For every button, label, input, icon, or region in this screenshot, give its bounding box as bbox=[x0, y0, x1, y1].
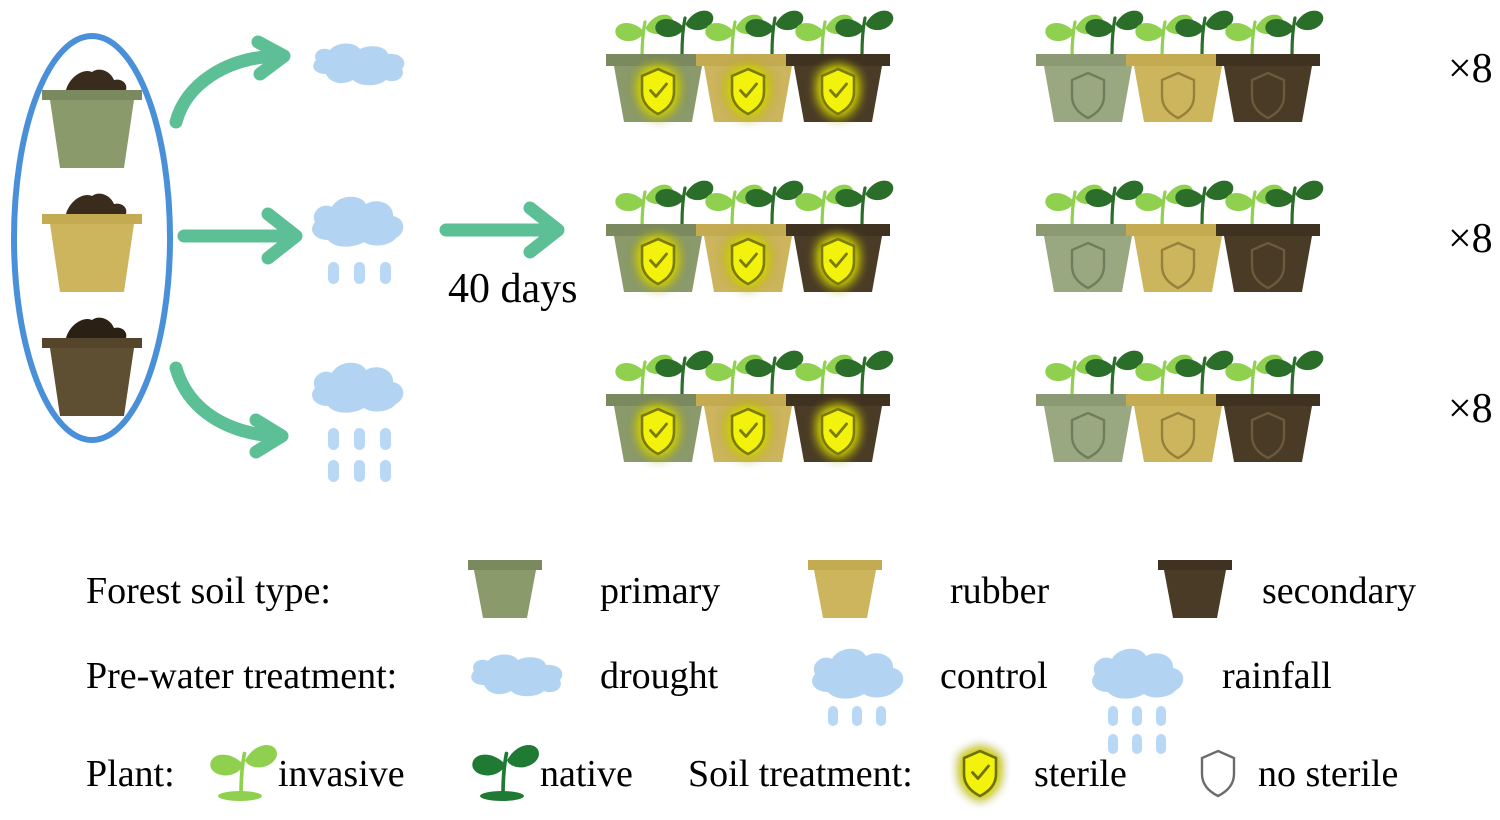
legend-shield-nonsterile bbox=[1202, 751, 1234, 796]
legend-seedling-invasive bbox=[211, 746, 277, 801]
legend-soil-label-rubber: rubber bbox=[950, 572, 1049, 610]
pot-rim bbox=[786, 394, 890, 406]
grid-row bbox=[606, 11, 1323, 122]
plant-pot-sterile-primary bbox=[606, 181, 713, 292]
pot-rim bbox=[786, 54, 890, 66]
legend-soil-swatch-primary bbox=[468, 560, 542, 618]
pot-body bbox=[1044, 406, 1132, 462]
pot-body bbox=[1134, 236, 1222, 292]
diagram-canvas: 40 days ×8 ×8 ×8 Forest soil type: prima… bbox=[0, 0, 1500, 820]
pot-body bbox=[1044, 236, 1132, 292]
plant-pot-sterile-rubber bbox=[696, 11, 803, 122]
plant-pot-nonsterile-rubber bbox=[1126, 181, 1233, 292]
sterile-shield-icon bbox=[822, 239, 854, 284]
sterile-shield-icon bbox=[822, 69, 854, 114]
sterile-shield-icon bbox=[642, 69, 674, 114]
raindrops-row bbox=[828, 706, 886, 726]
raindrops-row bbox=[1108, 706, 1166, 726]
cloud-drought bbox=[313, 43, 404, 85]
legend-soil-label-secondary: secondary bbox=[1262, 572, 1416, 610]
raindrops-row bbox=[328, 262, 391, 284]
legend-soil-label-primary: primary bbox=[600, 572, 720, 610]
pot-body bbox=[1134, 66, 1222, 122]
pot-rim bbox=[1036, 54, 1140, 66]
pot-rim bbox=[696, 394, 800, 406]
legend-water-title: Pre-water treatment: bbox=[86, 657, 397, 695]
arrow-40-days bbox=[446, 208, 558, 252]
pot-rim bbox=[1126, 54, 1230, 66]
grid-row bbox=[606, 351, 1323, 462]
diagram-vector-layer bbox=[0, 0, 1500, 820]
pot-body bbox=[1044, 66, 1132, 122]
legend-seedling-native bbox=[473, 746, 539, 801]
pot-rim bbox=[1036, 224, 1140, 236]
sterile-shield-icon bbox=[732, 69, 764, 114]
plant-pot-nonsterile-primary bbox=[1036, 181, 1143, 292]
pot-rim bbox=[1126, 224, 1230, 236]
raindrops-row bbox=[328, 460, 391, 482]
duration-label: 40 days bbox=[448, 268, 578, 310]
cloud-rainfall bbox=[312, 363, 403, 482]
plant-pot-sterile-rubber bbox=[696, 181, 803, 292]
sterile-shield-icon bbox=[732, 409, 764, 454]
sterile-shield-icon bbox=[732, 239, 764, 284]
legend-plant-label-native: native bbox=[540, 755, 633, 793]
plant-pot-sterile-primary bbox=[606, 351, 713, 462]
plant-pot-sterile-secondary bbox=[786, 11, 893, 122]
source-pot-primary bbox=[42, 70, 142, 168]
source-pot-rubber bbox=[42, 194, 142, 292]
pot-rim bbox=[606, 54, 710, 66]
raindrops-row bbox=[328, 428, 391, 450]
sterile-shield-icon bbox=[642, 409, 674, 454]
sterile-shield-icon bbox=[642, 239, 674, 284]
legend-cloud-rainfall bbox=[1092, 649, 1183, 754]
pot-rim bbox=[696, 224, 800, 236]
replicate-count-row-2: ×8 bbox=[1448, 218, 1493, 260]
legend-soil-swatch-rubber bbox=[808, 560, 882, 618]
plant-pot-nonsterile-rubber bbox=[1126, 351, 1233, 462]
pot-rim bbox=[696, 54, 800, 66]
plant-pot-nonsterile-primary bbox=[1036, 351, 1143, 462]
pot-body bbox=[1134, 406, 1222, 462]
pot-rim bbox=[606, 394, 710, 406]
plant-pot-nonsterile-rubber bbox=[1126, 11, 1233, 122]
plant-pot-nonsterile-secondary bbox=[1216, 181, 1323, 292]
pot-rim bbox=[1216, 54, 1320, 66]
grid-row bbox=[606, 181, 1323, 292]
legend-cloud-drought bbox=[471, 654, 562, 696]
legend-soil-swatch-secondary bbox=[1158, 560, 1232, 618]
legend-water-label-control: control bbox=[940, 657, 1048, 695]
plant-pot-nonsterile-primary bbox=[1036, 11, 1143, 122]
pot-body bbox=[1224, 236, 1312, 292]
cloud-control bbox=[312, 197, 403, 284]
pot-body bbox=[1224, 66, 1312, 122]
plant-pot-nonsterile-secondary bbox=[1216, 11, 1323, 122]
arrow-to-rainfall bbox=[176, 368, 282, 452]
plant-pot-sterile-primary bbox=[606, 11, 713, 122]
replicate-count-row-3: ×8 bbox=[1448, 388, 1493, 430]
legend-soiltreatment-label-nosterile: no sterile bbox=[1258, 755, 1398, 793]
arrow-to-drought bbox=[176, 42, 284, 122]
arrow-to-control bbox=[184, 214, 296, 258]
plant-pot-sterile-secondary bbox=[786, 351, 893, 462]
plant-pot-nonsterile-secondary bbox=[1216, 351, 1323, 462]
legend-soiltreatment-label-sterile: sterile bbox=[1034, 755, 1127, 793]
legend-cloud-control bbox=[812, 649, 903, 726]
plant-pot-sterile-secondary bbox=[786, 181, 893, 292]
sterile-shield-icon bbox=[822, 409, 854, 454]
legend-plant-title: Plant: bbox=[86, 755, 175, 793]
legend-water-label-drought: drought bbox=[600, 657, 718, 695]
legend-soiltreatment-title: Soil treatment: bbox=[688, 755, 913, 793]
legend-water-label-rainfall: rainfall bbox=[1222, 657, 1332, 695]
source-pot-secondary bbox=[42, 318, 142, 416]
pot-rim bbox=[606, 224, 710, 236]
pot-rim bbox=[1216, 224, 1320, 236]
pot-rim bbox=[1216, 394, 1320, 406]
raindrops-row bbox=[1108, 734, 1166, 754]
pot-rim bbox=[1036, 394, 1140, 406]
replicate-count-row-1: ×8 bbox=[1448, 48, 1493, 90]
legend-soil-title: Forest soil type: bbox=[86, 572, 331, 610]
legend-plant-label-invasive: invasive bbox=[278, 755, 405, 793]
pot-rim bbox=[1126, 394, 1230, 406]
plant-pot-sterile-rubber bbox=[696, 351, 803, 462]
pot-body bbox=[1224, 406, 1312, 462]
legend-shield-sterile bbox=[964, 751, 996, 796]
pot-rim bbox=[786, 224, 890, 236]
